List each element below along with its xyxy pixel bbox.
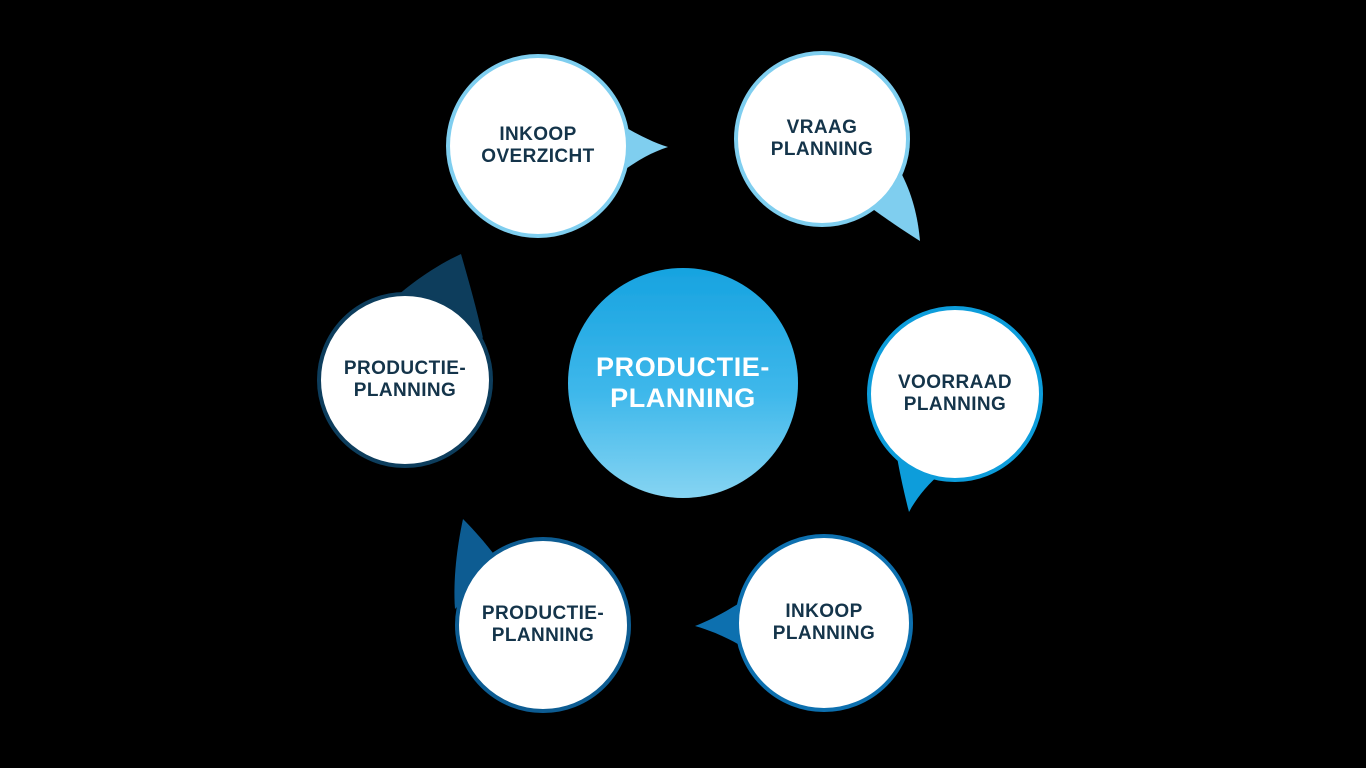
bubble-productie-planning-bottom[interactable]: PRODUCTIE- PLANNING <box>455 537 645 727</box>
circle-vraag-planning <box>736 53 908 225</box>
bubble-vraag-planning[interactable]: VRAAG PLANNING <box>734 51 924 241</box>
bubble-inkoop-overzicht[interactable]: INKOOP OVERZICHT <box>443 51 633 241</box>
bubble-inkoop-planning[interactable]: INKOOP PLANNING <box>735 534 925 724</box>
bubble-productie-planning-left[interactable]: PRODUCTIE- PLANNING <box>317 292 507 482</box>
circle-inkoop-overzicht <box>448 56 628 236</box>
diagram-canvas: INKOOP OVERZICHT VRAAG PLANNING <box>0 0 1366 768</box>
bubble-voorraad-planning[interactable]: VOORRAAD PLANNING <box>867 306 1057 496</box>
circle-hub <box>568 268 798 498</box>
circle-productie-planning-left <box>319 294 491 466</box>
circle-productie-planning-bottom <box>457 539 629 711</box>
circle-inkoop-planning <box>737 536 911 710</box>
hub-productie-planning[interactable]: PRODUCTIE- PLANNING <box>568 268 798 498</box>
circle-voorraad-planning <box>869 308 1041 480</box>
